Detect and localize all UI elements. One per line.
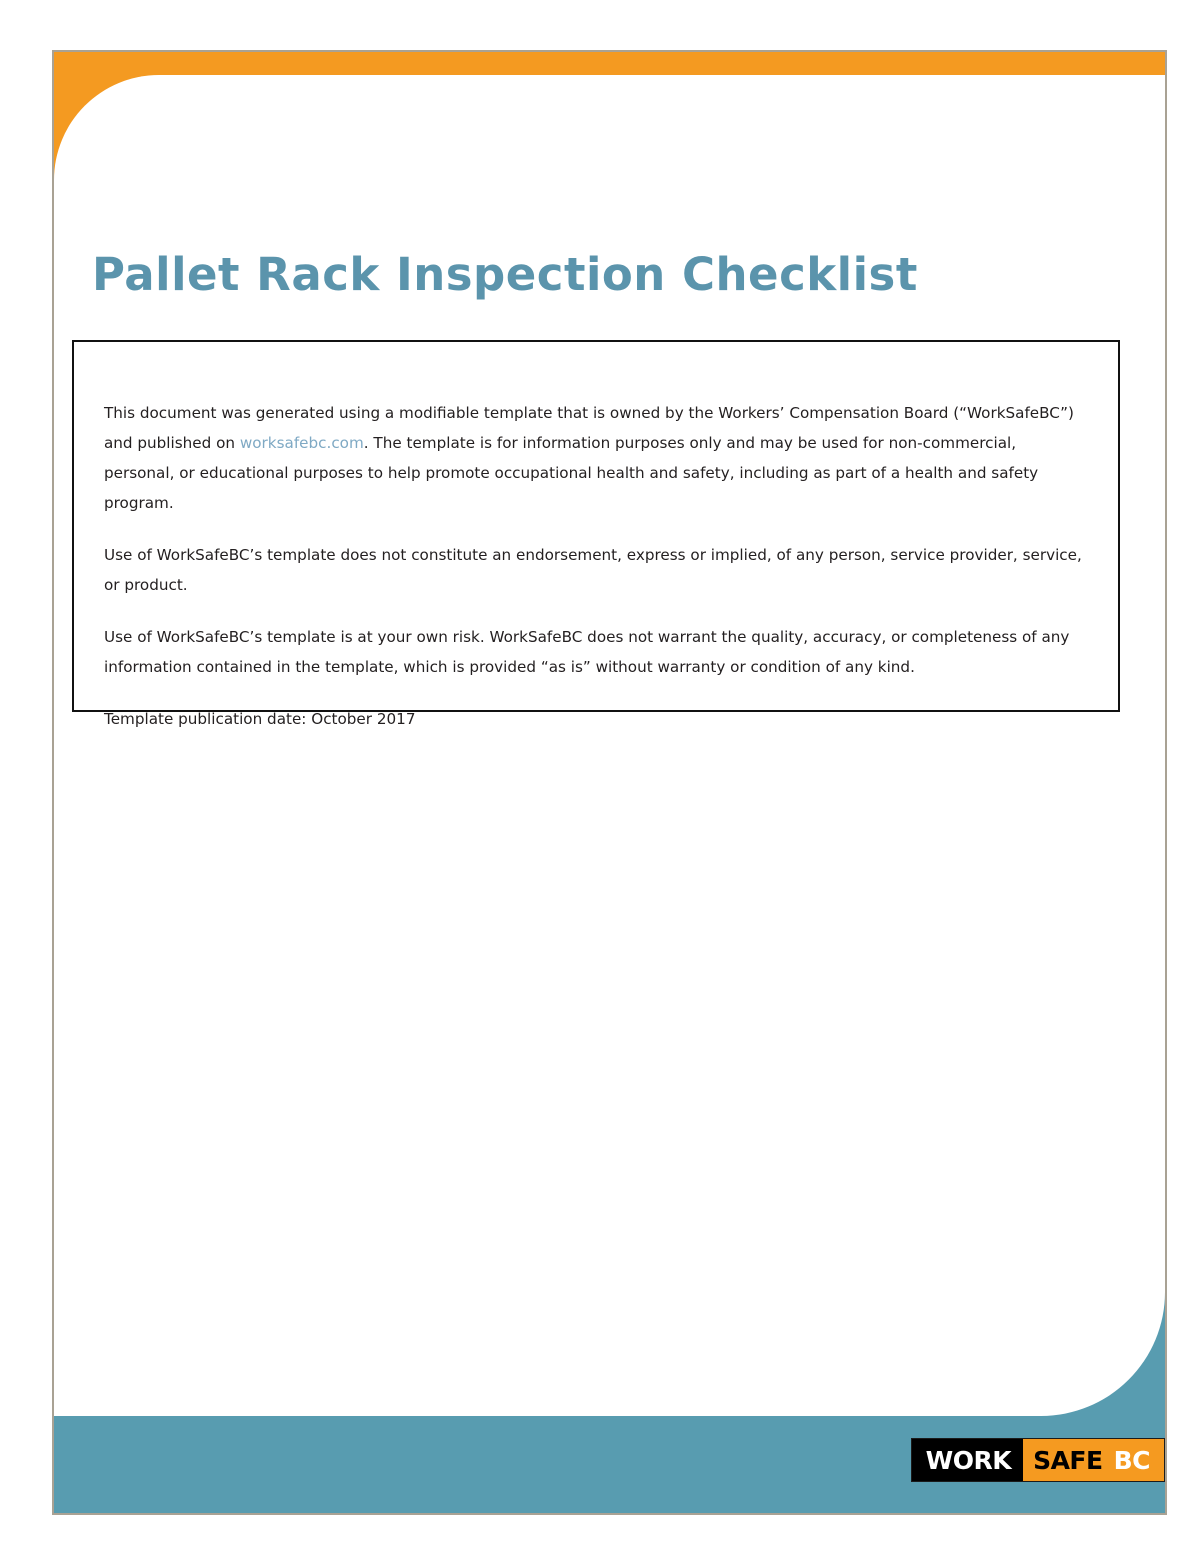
- disclaimer-paragraph-1: This document was generated using a modi…: [104, 398, 1084, 518]
- teal-corner-decoration: [1037, 1292, 1165, 1416]
- logo-work-text: WORK: [926, 1448, 1011, 1473]
- orange-corner-decoration: [54, 75, 159, 180]
- disclaimer-box: This document was generated using a modi…: [72, 340, 1120, 712]
- logo-safe-text: SAFE: [1033, 1448, 1103, 1473]
- disclaimer-paragraph-3: Use of WorkSafeBC’s template is at your …: [104, 622, 1084, 682]
- page-title: Pallet Rack Inspection Checklist: [92, 250, 1092, 300]
- logo-safebc-block: SAFE BC: [1023, 1439, 1164, 1481]
- orange-header-band: [54, 52, 1165, 75]
- logo-bc-text: BC: [1114, 1448, 1150, 1473]
- worksafebc-logo: WORK SAFE BC: [911, 1438, 1165, 1482]
- disclaimer-paragraph-2: Use of WorkSafeBC’s template does not co…: [104, 540, 1084, 600]
- document-page: Pallet Rack Inspection Checklist This do…: [52, 50, 1167, 1515]
- publication-date: Template publication date: October 2017: [104, 704, 1084, 734]
- worksafebc-link[interactable]: worksafebc.com: [240, 434, 364, 452]
- teal-footer-band: WORK SAFE BC: [54, 1416, 1165, 1513]
- logo-work-block: WORK: [912, 1439, 1023, 1481]
- disclaimer-content: This document was generated using a modi…: [74, 342, 1118, 734]
